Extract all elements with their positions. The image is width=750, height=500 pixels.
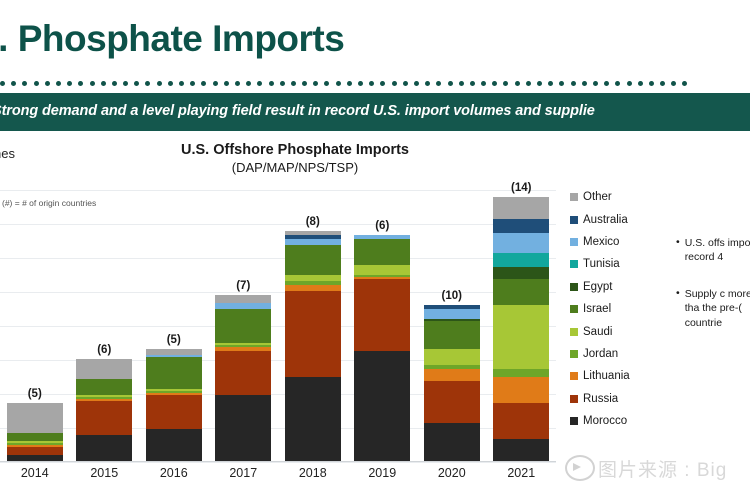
bar-origin-count-label: (6)	[70, 344, 140, 356]
bar-origin-count-label: (6)	[348, 220, 418, 232]
legend-swatch-icon	[570, 260, 578, 268]
bar-segment-russia[interactable]	[354, 279, 410, 351]
divider-dot	[291, 81, 296, 86]
divider-dot	[179, 81, 184, 86]
legend-item-russia[interactable]: Russia	[570, 388, 670, 410]
divider-dot	[492, 81, 497, 86]
x-tick-2020: 2020	[417, 462, 487, 486]
legend-swatch-icon	[570, 395, 578, 403]
divider-dot	[78, 81, 83, 86]
divider-dot	[671, 81, 676, 86]
bar-group-2018[interactable]: (8)	[278, 190, 348, 461]
divider-dot	[649, 81, 654, 86]
bar-segment-australia[interactable]	[493, 219, 549, 233]
bar-segment-russia[interactable]	[146, 395, 202, 429]
bar-segment-saudi[interactable]	[493, 305, 549, 369]
legend-swatch-icon	[570, 283, 578, 291]
divider-dot	[201, 81, 206, 86]
divider-dot	[369, 81, 374, 86]
bar-segment-morocco[interactable]	[424, 423, 480, 461]
divider-dot	[559, 81, 564, 86]
legend-swatch-icon	[570, 417, 578, 425]
divider-dot	[548, 81, 553, 86]
bar-segment-morocco[interactable]	[493, 439, 549, 461]
x-tick-2014: 2014	[0, 462, 70, 486]
watermark-text: 图片来源 : Big	[598, 455, 727, 482]
chart-subtitle: (DAP/MAP/NPS/TSP)	[140, 160, 450, 175]
legend-item-australia[interactable]: Australia	[570, 208, 670, 230]
bar-segment-israel[interactable]	[285, 245, 341, 275]
legend-item-other[interactable]: Other	[570, 186, 670, 208]
bar-segment-israel[interactable]	[493, 279, 549, 305]
bar-segment-saudi[interactable]	[354, 265, 410, 275]
divider-dot	[526, 81, 531, 86]
legend-item-saudi[interactable]: Saudi	[570, 320, 670, 342]
legend-item-morocco[interactable]: Morocco	[570, 410, 670, 432]
divider-dot	[45, 81, 50, 86]
bar-stack[interactable]	[285, 231, 341, 461]
bullet-text: Supply c more tha the pre-( countrie	[685, 287, 750, 330]
divider-dot	[56, 81, 61, 86]
divider-dot	[593, 81, 598, 86]
bar-stack[interactable]	[146, 349, 202, 461]
legend-swatch-icon	[570, 216, 578, 224]
bar-segment-israel[interactable]	[76, 379, 132, 395]
bullet-marker-icon: •	[676, 287, 680, 330]
divider-dot	[280, 81, 285, 86]
bar-group-2020[interactable]: (10)	[417, 190, 487, 461]
divider-dot	[34, 81, 39, 86]
bar-segment-russia[interactable]	[76, 401, 132, 435]
divider-dot	[627, 81, 632, 86]
dotted-divider	[0, 78, 750, 88]
x-axis-tick-labels: 20142015201620172018201920202021	[0, 462, 556, 486]
legend-item-tunisia[interactable]: Tunisia	[570, 253, 670, 275]
bar-segment-egypt[interactable]	[493, 267, 549, 279]
bar-segment-other[interactable]	[493, 197, 549, 219]
bar-segment-russia[interactable]	[493, 403, 549, 439]
legend-label: Egypt	[583, 281, 612, 293]
legend-swatch-icon	[570, 305, 578, 313]
bar-segment-jordan[interactable]	[493, 369, 549, 377]
chart-title: U.S. Offshore Phosphate Imports	[140, 142, 450, 158]
bar-segment-morocco[interactable]	[215, 395, 271, 461]
divider-dot	[235, 81, 240, 86]
divider-dot	[22, 81, 27, 86]
x-tick-2019: 2019	[348, 462, 418, 486]
bar-group-2017[interactable]: (7)	[209, 190, 279, 461]
divider-dot	[358, 81, 363, 86]
bar-group-2019[interactable]: (6)	[348, 190, 418, 461]
bar-origin-count-label: (7)	[209, 280, 279, 292]
bar-stack[interactable]	[215, 295, 271, 461]
divider-dot	[168, 81, 173, 86]
x-tick-2017: 2017	[209, 462, 279, 486]
legend-label: Jordan	[583, 348, 618, 360]
divider-dot	[403, 81, 408, 86]
bullet-item-1: •U.S. offs import v record 4	[676, 236, 750, 265]
divider-dot	[157, 81, 162, 86]
divider-dot	[145, 81, 150, 86]
bar-segment-israel[interactable]	[354, 239, 410, 265]
bar-segment-morocco[interactable]	[354, 351, 410, 461]
legend-item-jordan[interactable]: Jordan	[570, 343, 670, 365]
y-axis-label: nes	[0, 146, 15, 161]
chart-plot-area: (5)(6)(5)(7)(8)(6)(10)(14)	[0, 190, 556, 462]
x-tick-2015: 2015	[70, 462, 140, 486]
bar-segment-other[interactable]	[76, 359, 132, 379]
divider-dot	[604, 81, 609, 86]
x-tick-2016: 2016	[139, 462, 209, 486]
bar-segment-russia[interactable]	[285, 291, 341, 377]
legend-item-mexico[interactable]: Mexico	[570, 231, 670, 253]
legend-swatch-icon	[570, 193, 578, 201]
divider-dot	[448, 81, 453, 86]
divider-dot	[470, 81, 475, 86]
bar-segment-saudi[interactable]	[424, 349, 480, 365]
legend-label: Australia	[583, 214, 628, 226]
legend-label: Other	[583, 191, 612, 203]
bar-segment-lithuania[interactable]	[493, 377, 549, 403]
bullet-item-2: •Supply c more tha the pre-( countrie	[676, 287, 750, 330]
x-tick-2021: 2021	[487, 462, 557, 486]
legend-item-israel[interactable]: Israel	[570, 298, 670, 320]
legend-label: Lithuania	[583, 370, 630, 382]
bar-stack[interactable]	[7, 403, 63, 461]
divider-dot	[123, 81, 128, 86]
banner-text: Strong demand and a level playing field …	[0, 103, 750, 119]
divider-dot	[90, 81, 95, 86]
bar-series-container: (5)(6)(5)(7)(8)(6)(10)(14)	[0, 190, 556, 461]
divider-dot	[313, 81, 318, 86]
page-title: S. Phosphate Imports	[0, 18, 674, 60]
bar-stack[interactable]	[424, 305, 480, 461]
divider-dot	[101, 81, 106, 86]
divider-dot	[515, 81, 520, 86]
divider-dot	[324, 81, 329, 86]
divider-dot	[112, 81, 117, 86]
bullet-marker-icon: •	[676, 236, 680, 265]
bar-stack[interactable]	[354, 235, 410, 461]
legend-label: Saudi	[583, 326, 612, 338]
divider-dot	[67, 81, 72, 86]
bar-origin-count-label: (5)	[0, 388, 70, 400]
divider-dot	[392, 81, 397, 86]
divider-dot	[190, 81, 195, 86]
divider-dot	[582, 81, 587, 86]
bar-segment-lithuania[interactable]	[424, 369, 480, 381]
divider-dot	[134, 81, 139, 86]
legend-label: Russia	[583, 393, 618, 405]
bar-origin-count-label: (5)	[139, 334, 209, 346]
divider-dot	[0, 81, 5, 86]
bar-group-2015[interactable]: (6)	[70, 190, 140, 461]
bar-segment-russia[interactable]	[215, 351, 271, 395]
divider-dot	[213, 81, 218, 86]
divider-dot	[682, 81, 687, 86]
divider-dot	[459, 81, 464, 86]
bar-stack[interactable]	[76, 359, 132, 461]
bar-origin-count-label: (14)	[487, 182, 557, 194]
divider-dot	[638, 81, 643, 86]
bar-segment-mexico[interactable]	[424, 309, 480, 319]
divider-dot	[257, 81, 262, 86]
divider-dot	[537, 81, 542, 86]
legend-swatch-icon	[570, 372, 578, 380]
bar-segment-israel[interactable]	[7, 433, 63, 441]
bar-segment-russia[interactable]	[7, 447, 63, 455]
bar-group-2016[interactable]: (5)	[139, 190, 209, 461]
watermark-play-icon	[565, 455, 595, 481]
legend-item-lithuania[interactable]: Lithuania	[570, 365, 670, 387]
legend-label: Mexico	[583, 236, 619, 248]
bar-segment-israel[interactable]	[215, 309, 271, 343]
divider-dot	[11, 81, 16, 86]
chart-legend: OtherAustraliaMexicoTunisiaEgyptIsraelSa…	[570, 186, 670, 432]
divider-dot	[481, 81, 486, 86]
bar-segment-morocco[interactable]	[285, 377, 341, 461]
divider-dot	[615, 81, 620, 86]
legend-swatch-icon	[570, 238, 578, 246]
legend-label: Morocco	[583, 415, 627, 427]
bar-segment-morocco[interactable]	[76, 435, 132, 461]
legend-label: Israel	[583, 303, 611, 315]
divider-dot	[503, 81, 508, 86]
divider-dot	[336, 81, 341, 86]
divider-dot	[414, 81, 419, 86]
x-tick-2018: 2018	[278, 462, 348, 486]
legend-swatch-icon	[570, 328, 578, 336]
bar-segment-tunisia[interactable]	[493, 253, 549, 267]
bar-segment-russia[interactable]	[424, 381, 480, 423]
bullet-list: •U.S. offs import v record 4•Supply c mo…	[676, 236, 750, 352]
bar-segment-mexico[interactable]	[493, 233, 549, 253]
legend-item-egypt[interactable]: Egypt	[570, 276, 670, 298]
divider-dot	[347, 81, 352, 86]
divider-dot	[224, 81, 229, 86]
bar-stack[interactable]	[493, 197, 549, 461]
bar-segment-morocco[interactable]	[146, 429, 202, 461]
legend-label: Tunisia	[583, 258, 620, 270]
divider-dot	[302, 81, 307, 86]
bar-segment-israel[interactable]	[424, 321, 480, 349]
divider-dot	[436, 81, 441, 86]
bar-segment-other[interactable]	[7, 403, 63, 433]
watermark: 图片来源 : Big	[565, 450, 750, 486]
legend-swatch-icon	[570, 350, 578, 358]
divider-dot	[660, 81, 665, 86]
bullet-text: U.S. offs import v record 4	[685, 236, 750, 265]
bar-group-2021[interactable]: (14)	[487, 190, 557, 461]
divider-dot	[246, 81, 251, 86]
bar-group-2014[interactable]: (5)	[0, 190, 70, 461]
divider-dot	[269, 81, 274, 86]
bar-segment-israel[interactable]	[146, 357, 202, 389]
divider-dot	[380, 81, 385, 86]
divider-dot	[425, 81, 430, 86]
divider-dot	[571, 81, 576, 86]
bar-segment-other[interactable]	[215, 295, 271, 303]
bar-origin-count-label: (8)	[278, 216, 348, 228]
bar-origin-count-label: (10)	[417, 290, 487, 302]
